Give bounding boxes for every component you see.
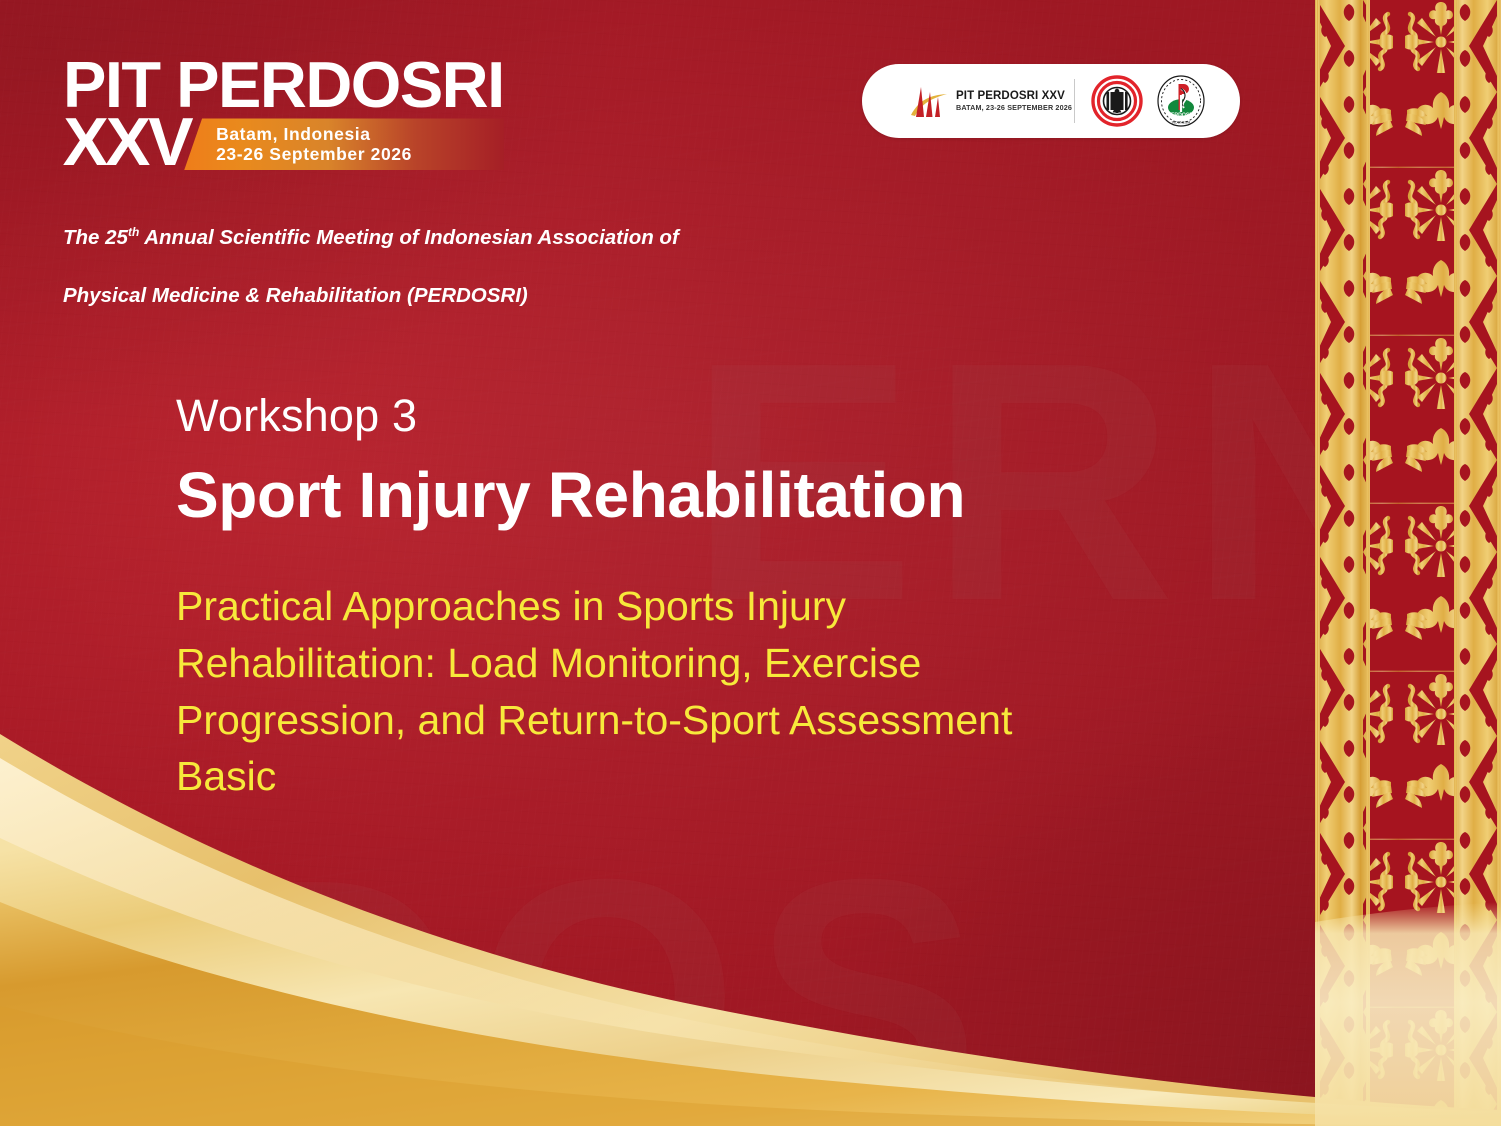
brand-dates: 23-26 September 2026 [216,144,504,165]
perdosri-logo-icon: PERDOSRI INDONESIA [1156,75,1206,127]
pit-perdosri-mark-icon [904,81,950,121]
brand-subtitle-pre: The 25 [63,226,128,249]
idi-logo-icon [1091,75,1143,127]
gold-wave-decoration [0,706,1501,1126]
event-brand-lockup: PIT PERDOSRI XXV Batam, Indonesia 23-26 … [63,55,679,310]
brand-subtitle-post: Annual Scientific Meeting of Indonesian … [139,226,679,249]
brand-title-row: XXV Batam, Indonesia 23-26 September 202… [63,113,679,171]
workshop-label: Workshop 3 [176,392,1176,439]
badge-event-place-date: BATAM, 23-26 SEPTEMBER 2026 [956,104,1072,112]
workshop-title: Sport Injury Rehabilitation [176,461,1176,530]
badge-event-name: PIT PERDOSRI XXV [956,90,1072,103]
brand-date-banner: Batam, Indonesia 23-26 September 2026 [184,118,504,170]
badge-divider [1074,79,1075,123]
badge-event-logo-group: PIT PERDOSRI XXV BATAM, 23-26 SEPTEMBER … [862,81,1070,121]
logo-badge: PIT PERDOSRI XXV BATAM, 23-26 SEPTEMBER … [862,64,1240,138]
svg-text:INDONESIA: INDONESIA [1172,120,1191,124]
brand-subtitle-ordinal: th [128,225,139,239]
presentation-slide: ERN DOS PIT PERDOSRI XXV Batam, Indonesi… [0,0,1501,1126]
badge-org-logo-group: PERDOSRI INDONESIA [1091,75,1206,127]
brand-subtitle: The 25th Annual Scientific Meeting of In… [63,194,679,310]
svg-text:PERDOSRI: PERDOSRI [1167,113,1195,119]
brand-title-edition: XXV [62,113,192,171]
brand-location: Batam, Indonesia [216,124,504,145]
badge-event-text: PIT PERDOSRI XXV BATAM, 23-26 SEPTEMBER … [956,90,1072,112]
brand-subtitle-line2: Physical Medicine & Rehabilitation (PERD… [63,284,528,307]
